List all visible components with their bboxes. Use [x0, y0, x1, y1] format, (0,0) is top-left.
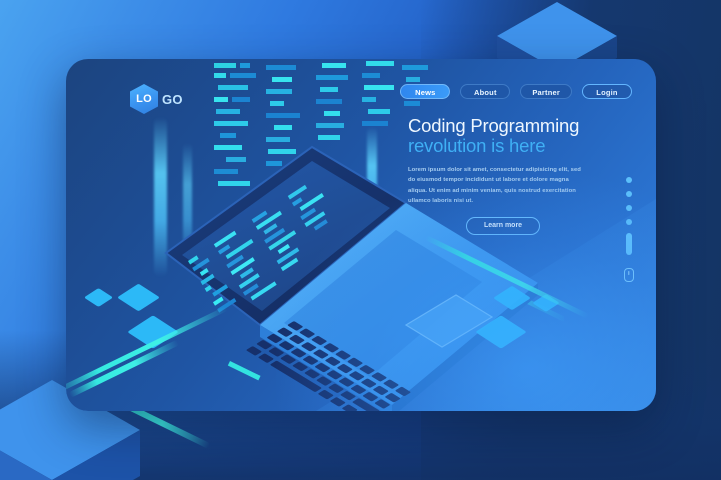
- pagination-indicator: [624, 177, 634, 282]
- pagination-dot-active[interactable]: [626, 233, 632, 255]
- hero-body-text: Lorem ipsum dolor sit amet, consectetur …: [408, 165, 584, 206]
- hero-illustration-canvas: LO GO News About Partner Login: [0, 0, 721, 480]
- scroll-mouse-icon: [624, 268, 634, 282]
- pagination-dot-1[interactable]: [626, 177, 632, 183]
- pagination-dot-3[interactable]: [626, 205, 632, 211]
- headline-line-1: Coding Programming: [408, 116, 634, 136]
- logo-mark-text: LO: [136, 93, 152, 105]
- nav-item-login[interactable]: Login: [582, 84, 632, 99]
- nav-item-news[interactable]: News: [400, 84, 450, 99]
- logo-word-text: GO: [162, 92, 183, 107]
- hero-card: LO GO News About Partner Login: [66, 59, 656, 411]
- main-navigation: News About Partner Login: [400, 84, 632, 99]
- headline-line-2: revolution is here: [408, 136, 634, 157]
- pagination-dot-4[interactable]: [626, 219, 632, 225]
- logo-hexagon-icon: LO: [130, 84, 158, 114]
- learn-more-button[interactable]: Learn more: [466, 217, 540, 235]
- nav-item-partner[interactable]: Partner: [520, 84, 572, 99]
- pagination-dot-2[interactable]: [626, 191, 632, 197]
- hero-text-block: Coding Programming revolution is here Lo…: [408, 116, 634, 235]
- logo[interactable]: LO GO: [130, 84, 183, 114]
- nav-item-about[interactable]: About: [460, 84, 510, 99]
